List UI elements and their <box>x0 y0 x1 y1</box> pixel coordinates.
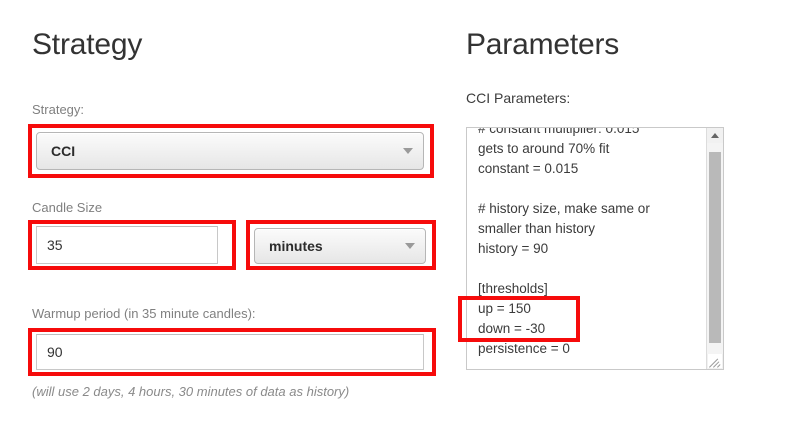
candle-unit-select[interactable]: minutes <box>254 228 426 264</box>
candle-unit-select-value: minutes <box>269 238 405 254</box>
cci-parameters-textarea[interactable]: # constant multiplier: 0.015 gets to aro… <box>466 127 724 370</box>
parameters-panel: Parameters CCI Parameters: # constant mu… <box>450 0 790 432</box>
resize-grip-icon[interactable] <box>708 354 722 368</box>
warmup-period-input-value: 90 <box>47 344 63 360</box>
candle-size-input[interactable]: 35 <box>36 226 218 264</box>
parameters-heading: Parameters <box>466 30 619 60</box>
strategy-select-value: CCI <box>51 143 403 159</box>
textarea-scrollbar[interactable] <box>706 128 723 369</box>
history-note: (will use 2 days, 4 hours, 30 minutes of… <box>32 384 349 399</box>
scroll-up-arrow-icon[interactable] <box>707 128 723 143</box>
warmup-period-label: Warmup period (in 35 minute candles): <box>32 306 256 322</box>
candle-size-input-value: 35 <box>47 237 63 253</box>
chevron-down-icon <box>403 148 413 154</box>
strategy-panel: Strategy Strategy: CCI Candle Size 35 mi… <box>0 0 450 432</box>
scrollbar-thumb[interactable] <box>709 152 721 343</box>
warmup-period-input[interactable]: 90 <box>36 334 424 370</box>
cci-parameters-label: CCI Parameters: <box>466 90 570 107</box>
candle-size-label: Candle Size <box>32 200 102 216</box>
strategy-select[interactable]: CCI <box>36 132 424 170</box>
strategy-select-label: Strategy: <box>32 102 84 118</box>
strategy-heading: Strategy <box>32 30 142 60</box>
chevron-down-icon <box>405 243 415 249</box>
cci-parameters-text: # constant multiplier: 0.015 gets to aro… <box>478 127 692 359</box>
